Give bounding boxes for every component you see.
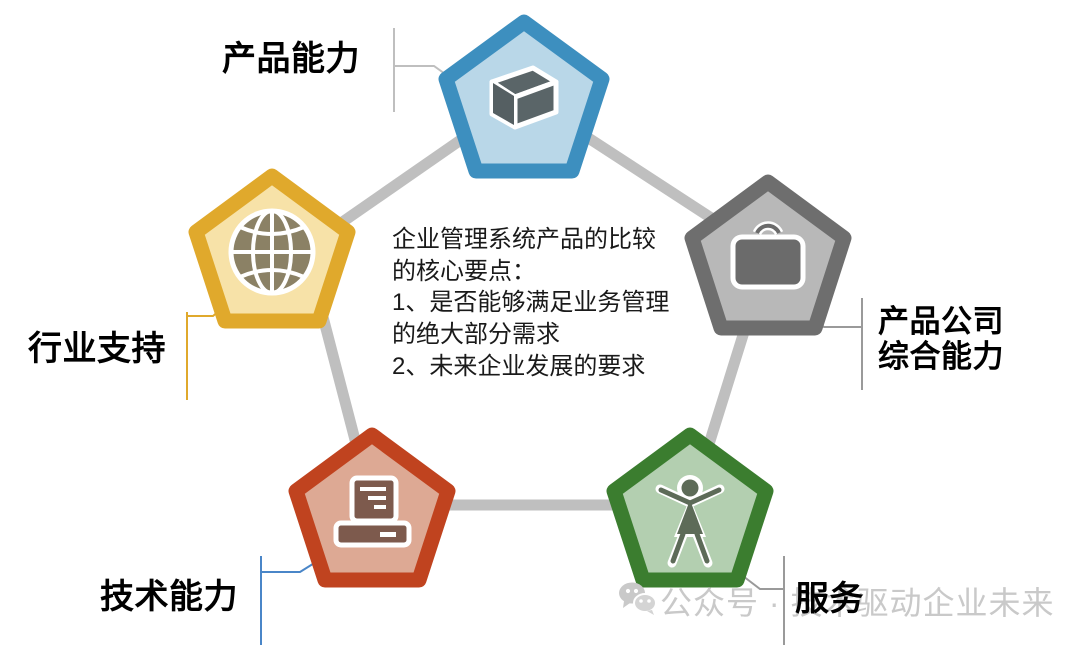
label-product-capability: 产品能力: [222, 40, 360, 78]
label-tech-capability: 技术能力: [100, 578, 238, 616]
diagram-canvas: 公众号 · 技术驱动企业未来 企业管理系统产品的比较的核心要点： 1、是否能够满…: [0, 0, 1080, 645]
node-industry[interactable]: [196, 176, 348, 321]
label-company-capability: 产品公司综合能力: [878, 305, 1004, 374]
node-company[interactable]: [692, 182, 844, 328]
cube-icon: [492, 68, 556, 127]
wechat-icon: [618, 581, 658, 615]
label-industry-support: 行业支持: [28, 330, 166, 368]
globe-icon: [231, 211, 313, 293]
label-company-line1: 产品公司: [878, 304, 1004, 339]
briefcase-icon: [733, 226, 803, 287]
label-company-line2: 综合能力: [878, 339, 1004, 374]
label-service: 服务: [795, 580, 864, 618]
node-product[interactable]: [446, 22, 602, 171]
node-tech[interactable]: [296, 435, 448, 580]
node-service[interactable]: [614, 435, 766, 580]
center-description: 企业管理系统产品的比较的核心要点： 1、是否能够满足业务管理的绝大部分需求 2、…: [392, 224, 672, 382]
